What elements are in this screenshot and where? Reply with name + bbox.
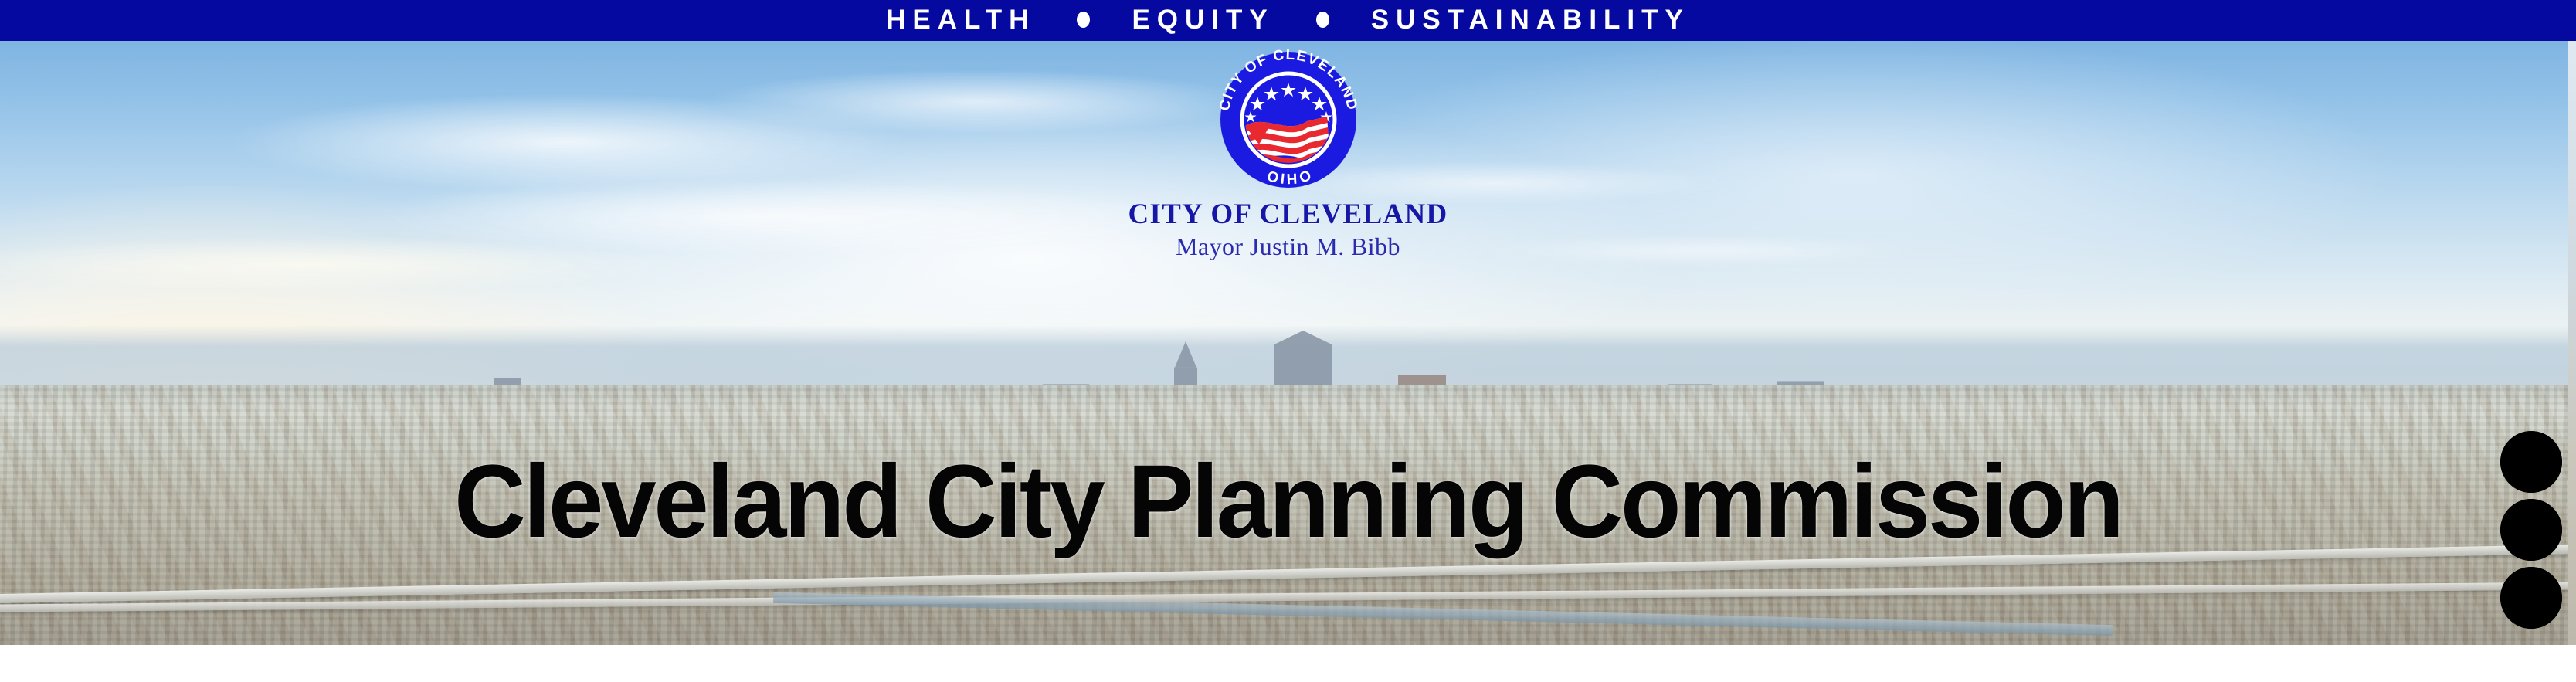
facebook-icon [2500,567,2562,629]
tagline-word-equity: EQUITY [1132,6,1274,33]
social-links [2500,431,2562,629]
tagline-separator-dot-1 [1077,12,1090,28]
bottom-white-area [0,645,2576,682]
tagline-separator-dot-2 [1316,12,1329,28]
city-of-cleveland-seal-icon: CITY OF CLEVELAND OHIO [1211,42,1366,197]
tagline-banner-inner: HEALTH EQUITY SUSTAINABILITY [886,6,1690,33]
city-branding: CITY OF CLEVELAND OHIO CITY OF CLEVELAND… [1018,42,1559,260]
facebook-link[interactable] [2500,567,2562,629]
tagline-word-sustainability: SUSTAINABILITY [1371,6,1690,33]
tagline-word-health: HEALTH [886,6,1035,33]
tagline-banner: HEALTH EQUITY SUSTAINABILITY [0,0,2576,41]
page-root: HEALTH EQUITY SUSTAINABILITY [0,0,2576,682]
instagram-link[interactable] [2500,499,2562,561]
organization-name: CITY OF CLEVELAND [1018,200,1559,230]
hero-ground [0,385,2576,645]
youtube-link[interactable] [2500,431,2562,493]
hero-right-edge-strip [2568,41,2576,645]
youtube-icon [2500,431,2562,493]
instagram-icon [2500,499,2562,561]
mayor-name: Mayor Justin M. Bibb [1018,234,1559,260]
